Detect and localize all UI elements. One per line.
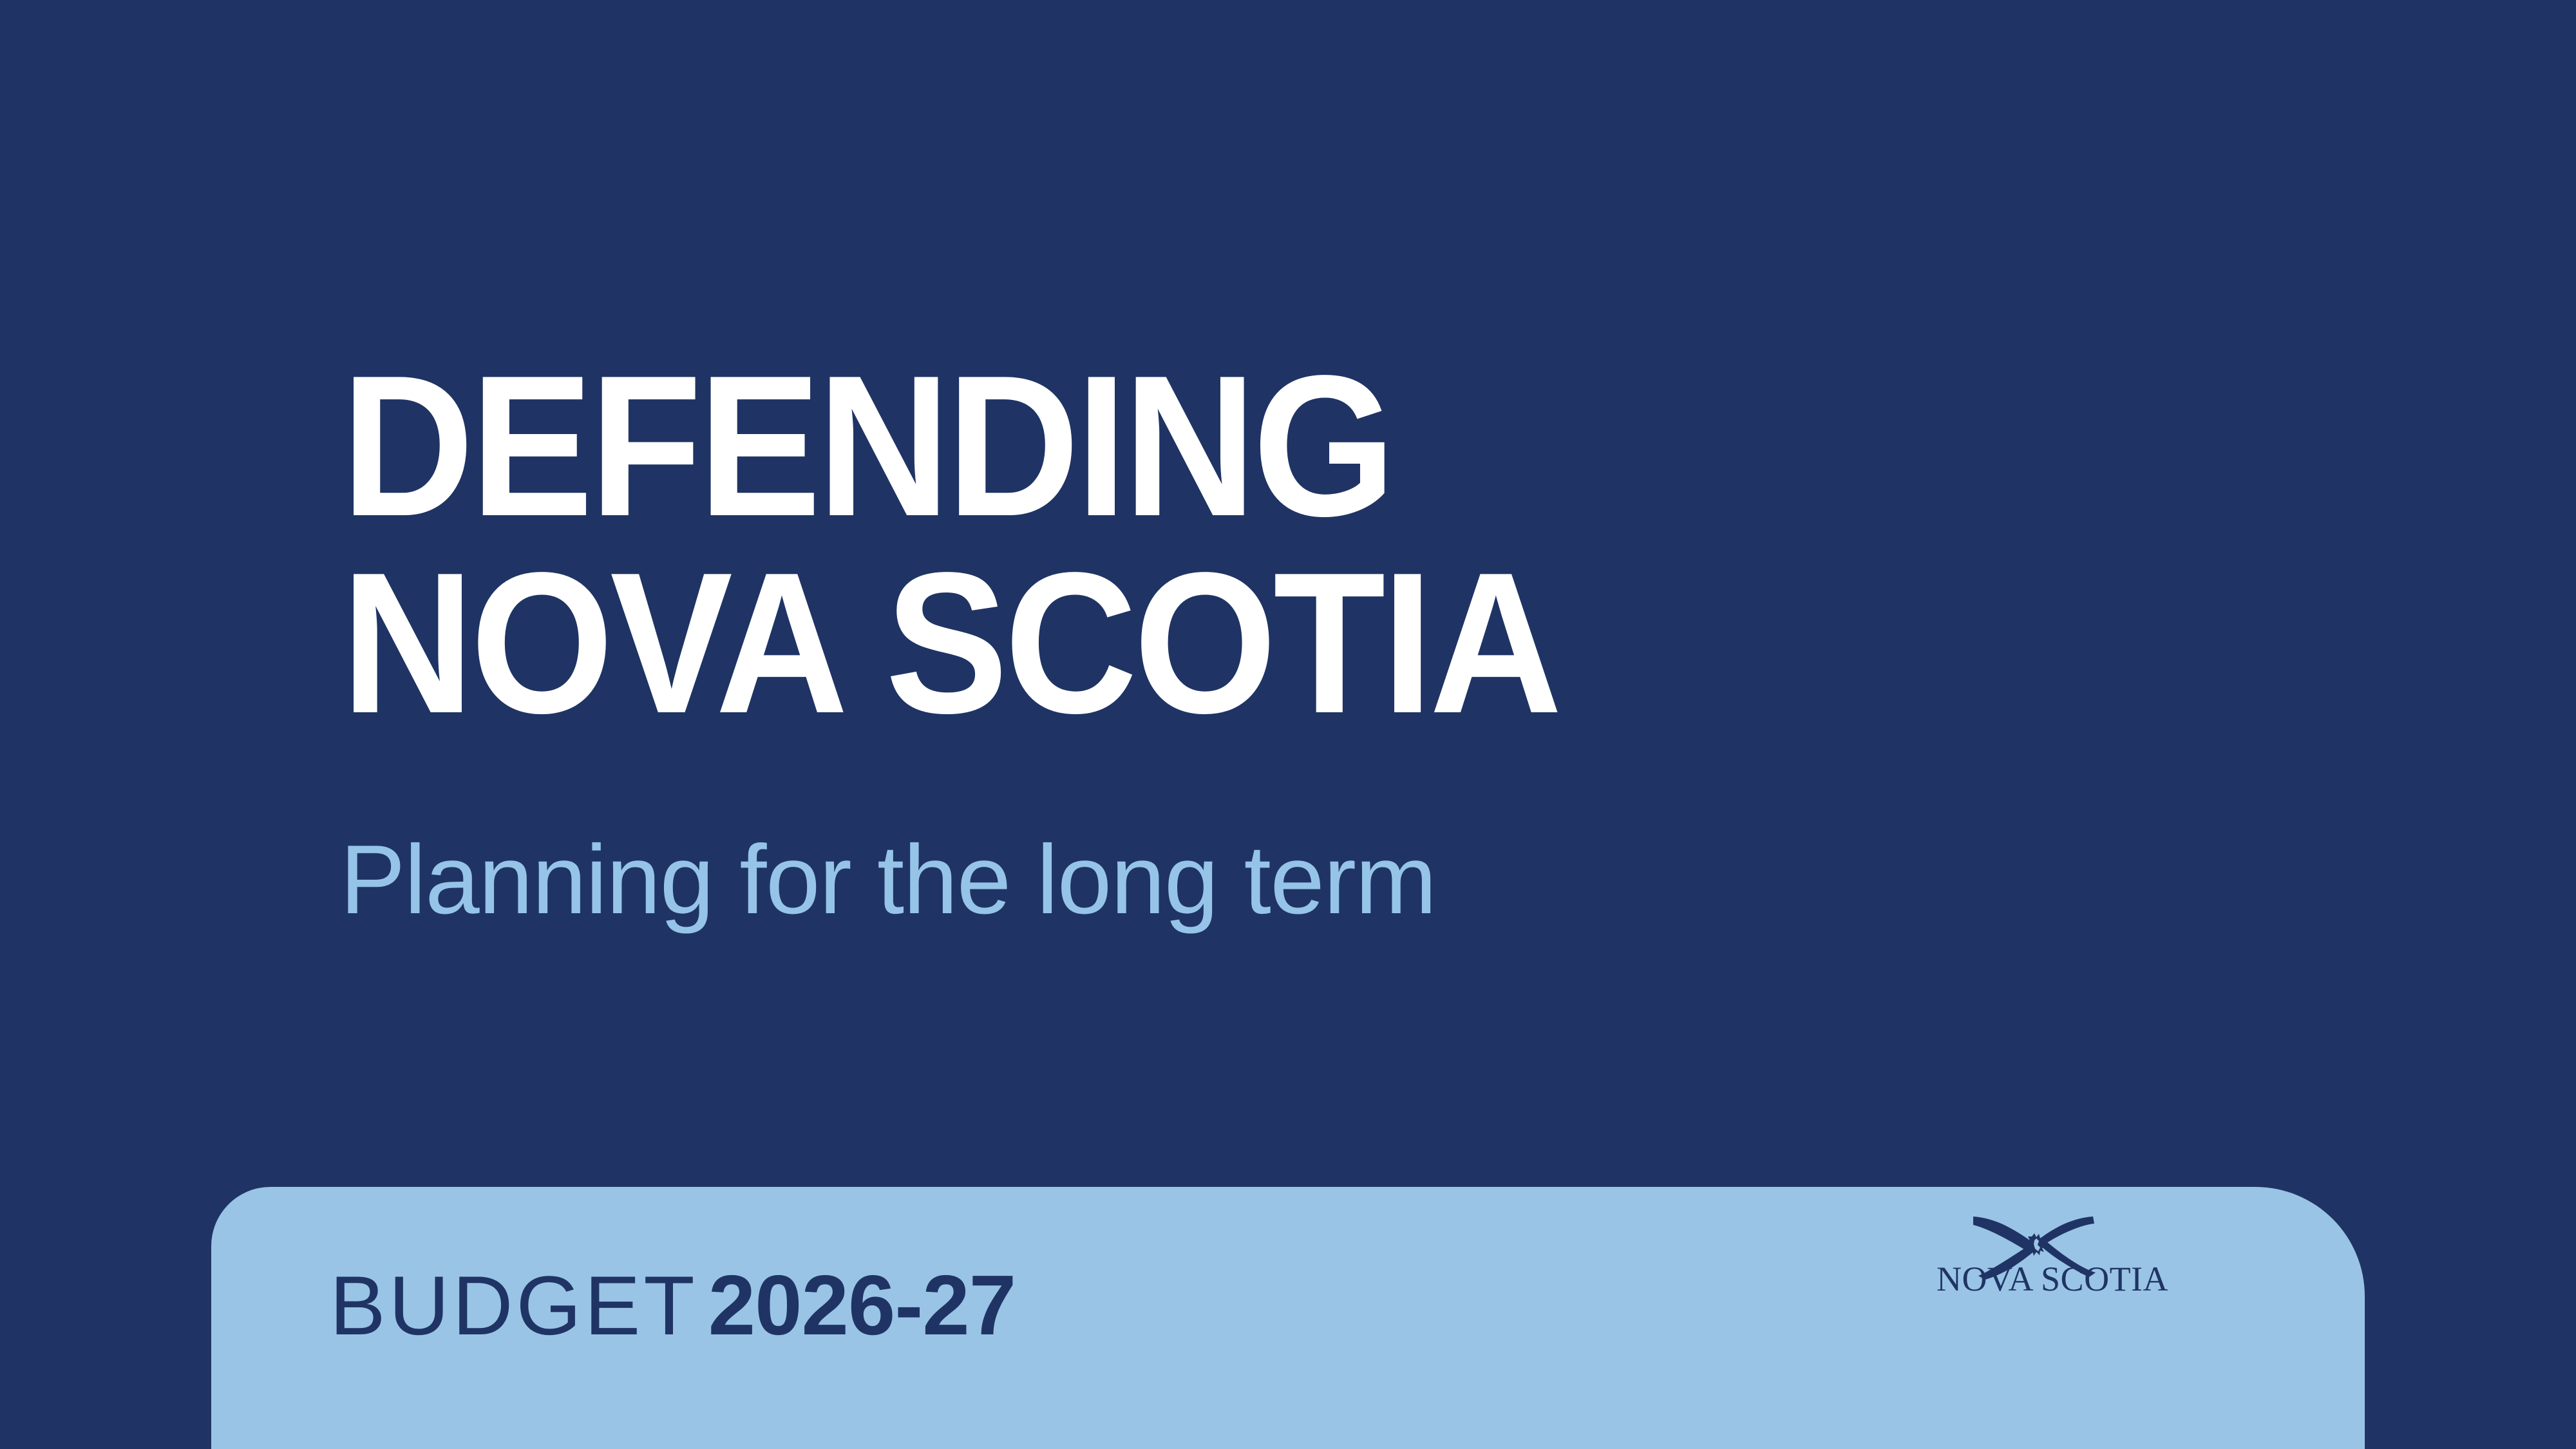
page-title: DEFENDING NOVA SCOTIA (341, 348, 2016, 742)
logo-wordmark: NOVA SCOTIA (1937, 1260, 2168, 1298)
bottom-banner: BUDGET2026-27 (211, 1187, 2365, 1449)
budget-title-slide: DEFENDING NOVA SCOTIA Planning for the l… (0, 0, 2576, 1449)
budget-years: 2026-27 (708, 1258, 1016, 1352)
title-line-1: DEFENDING (341, 348, 1873, 545)
page-subtitle: Planning for the long term (340, 828, 1436, 931)
title-line-2: NOVA SCOTIA (341, 545, 1873, 742)
budget-label: BUDGET2026-27 (330, 1263, 1016, 1348)
nova-scotia-logo: NOVA SCOTIA (1933, 1205, 2172, 1303)
budget-word: BUDGET (330, 1258, 698, 1352)
